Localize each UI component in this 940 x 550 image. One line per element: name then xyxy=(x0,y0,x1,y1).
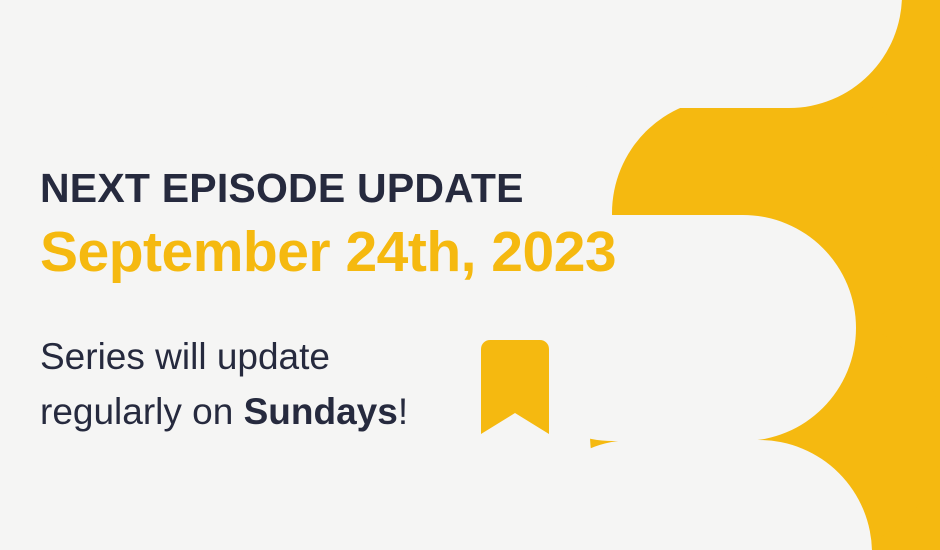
eyebrow-title: NEXT EPISODE UPDATE xyxy=(40,168,660,210)
next-episode-update-banner: NEXT EPISODE UPDATE September 24th, 2023… xyxy=(0,0,940,550)
subtext-line-2-emphasis: Sundays xyxy=(244,391,398,432)
wave-bite-bottom xyxy=(520,440,872,550)
subtext-line-2-prefix: regularly on xyxy=(40,391,244,432)
wave-band xyxy=(690,0,940,550)
headline-block: NEXT EPISODE UPDATE September 24th, 2023 xyxy=(40,168,660,282)
episode-date-title: September 24th, 2023 xyxy=(40,210,660,282)
subtext-line-2-suffix: ! xyxy=(398,391,408,432)
wave-bite-top xyxy=(540,0,902,108)
subtext-block: Series will update regularly on Sundays! xyxy=(40,330,470,440)
bookmark-icon xyxy=(481,340,549,434)
subtext-line-2: regularly on Sundays! xyxy=(40,385,470,440)
wave-lobe-upper xyxy=(612,98,940,328)
subtext-line-1: Series will update xyxy=(40,330,470,385)
wave-lobe-lower xyxy=(590,320,940,550)
